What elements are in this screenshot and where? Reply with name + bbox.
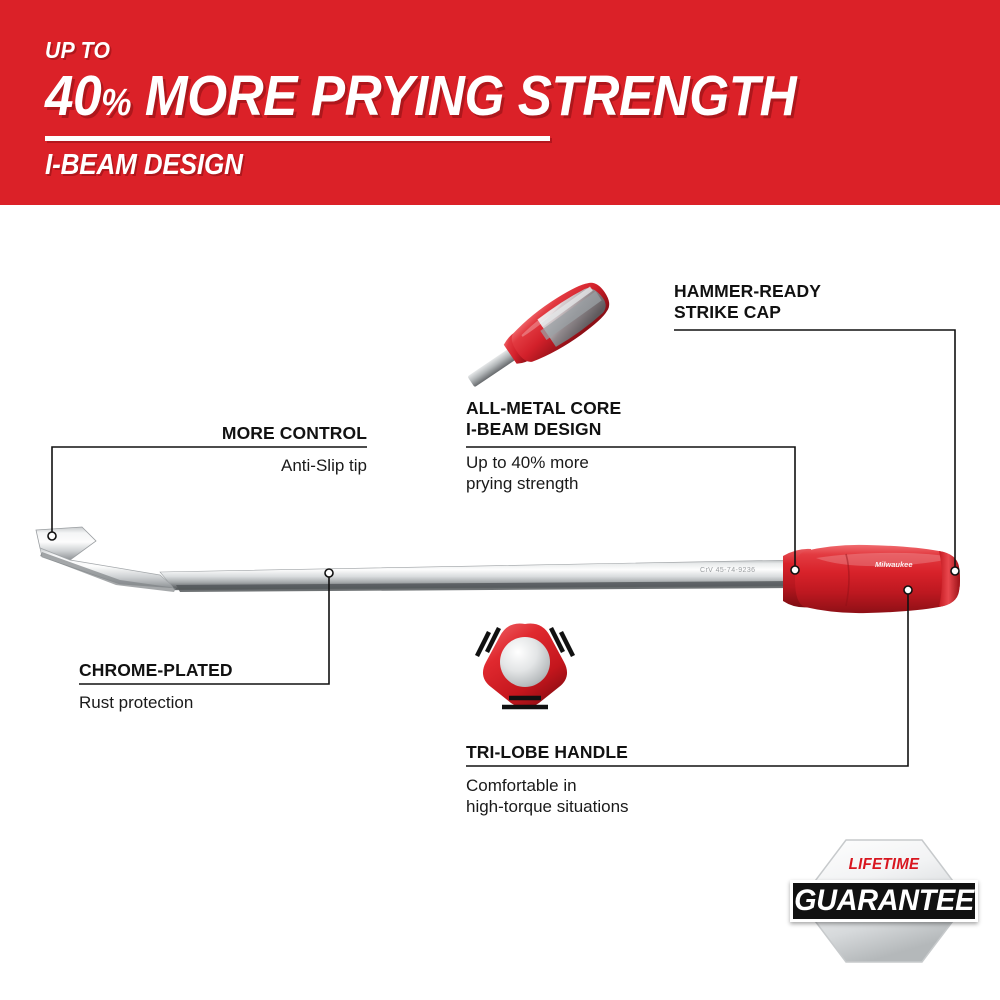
callout-title-line2: STRIKE CAP — [674, 302, 821, 323]
callout-body-line1: Up to 40% more — [466, 452, 621, 473]
trilobe-face — [500, 637, 550, 687]
callout-all-metal-core: ALL-METAL CORE I-BEAM DESIGN Up to 40% m… — [466, 398, 621, 494]
callout-body: Rust protection — [79, 692, 233, 713]
tri-lobe-handle-icon — [465, 610, 585, 720]
shaft-etching-text: CrV 45-74-9236 — [700, 567, 755, 574]
callout-title-line1: HAMMER-READY — [674, 281, 821, 302]
callout-title: CHROME-PLATED — [79, 660, 233, 681]
callout-title: TRI-LOBE HANDLE — [466, 742, 629, 763]
callout-body-line1: Comfortable in — [466, 775, 629, 796]
hammer-strike-cap — [939, 551, 960, 607]
callout-hammer-ready-strike-cap: HAMMER-READY STRIKE CAP — [674, 281, 821, 323]
handle-brand-mark: Milwaukee — [875, 560, 913, 569]
callout-title-line2: I-BEAM DESIGN — [466, 419, 621, 440]
all-metal-core-cutaway-inset — [452, 272, 632, 402]
callout-title-line1: ALL-METAL CORE — [466, 398, 621, 419]
callout-chrome-plated: CHROME-PLATED Rust protection — [79, 660, 233, 713]
callout-more-control: MORE CONTROL Anti-Slip tip — [107, 423, 367, 476]
badge-guarantee-label: GUARANTEE — [794, 885, 974, 917]
badge-lifetime-label: LIFETIME — [803, 856, 965, 874]
callout-title: MORE CONTROL — [107, 423, 367, 444]
callout-body-line2: high-torque situations — [466, 796, 629, 817]
callout-body-line2: prying strength — [466, 473, 621, 494]
callout-tri-lobe-handle: TRI-LOBE HANDLE Comfortable in high-torq… — [466, 742, 629, 817]
callout-body: Anti-Slip tip — [107, 455, 367, 476]
infographic-page: UP TO 40% MORE PRYING STRENGTH I-BEAM DE… — [0, 0, 1000, 1000]
lifetime-guarantee-badge: LIFETIME GUARANTEE — [798, 838, 970, 964]
